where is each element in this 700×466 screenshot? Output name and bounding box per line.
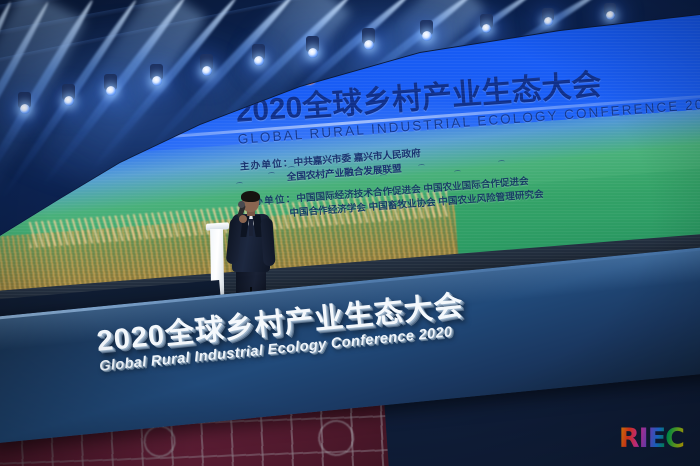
riec-corner-logo: RIEC xyxy=(619,423,684,454)
microphone-head-icon xyxy=(238,201,245,208)
stage-photo: RIEC 2020全球乡村产业生态大会 GLOBAL RURAL INDUSTR… xyxy=(0,0,700,466)
stage-light xyxy=(106,86,116,96)
stage-light xyxy=(20,104,30,114)
speaker-hair xyxy=(241,191,260,202)
stage-light xyxy=(64,96,74,106)
speaker-hand xyxy=(239,215,247,223)
host-label: 主办单位： xyxy=(239,157,294,172)
stage-light xyxy=(202,66,212,76)
stage-light xyxy=(254,56,264,66)
stage-light xyxy=(606,11,615,20)
stage-light xyxy=(364,40,374,50)
stage-light xyxy=(544,17,553,26)
stage-light xyxy=(152,76,162,86)
stage-light xyxy=(422,31,432,41)
stage-light xyxy=(482,24,491,33)
speaker-arm-right xyxy=(260,218,275,267)
stage-light xyxy=(308,48,318,58)
